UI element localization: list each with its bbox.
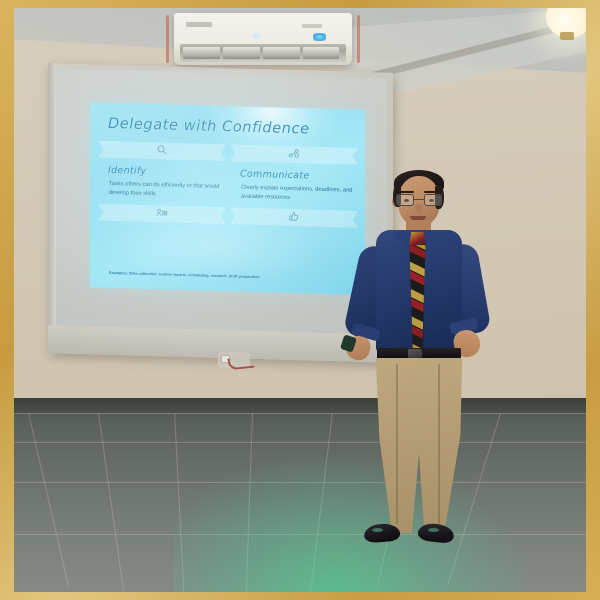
projector-screen-board: Delegate with Confidence xyxy=(48,63,393,363)
ac-brand-label xyxy=(186,22,212,27)
thumbs-up-icon xyxy=(289,208,300,226)
ceiling-light-base xyxy=(560,32,574,40)
ac-indicator-light xyxy=(252,33,261,39)
shoe-left xyxy=(363,522,400,543)
floor-skirting xyxy=(14,398,586,413)
air-conditioner-unit xyxy=(174,13,352,65)
search-icon xyxy=(157,142,168,160)
tie-knot xyxy=(409,232,426,245)
ac-vent-blade xyxy=(183,47,220,59)
belt-buckle xyxy=(408,349,422,359)
ac-vent-blade xyxy=(223,47,260,59)
slide-body-identify: Tasks others can do efficiently or that … xyxy=(109,180,237,201)
tile-grout-line xyxy=(98,413,124,590)
slide-heading-communicate: Communicate xyxy=(240,169,310,182)
trouser-crease-right xyxy=(438,364,440,524)
glasses-lens-left xyxy=(396,194,414,206)
slide-heading-identify: Identify xyxy=(108,165,146,177)
board-left-frame xyxy=(48,63,56,353)
ac-vent-blade xyxy=(303,47,340,59)
ac-model-label xyxy=(302,24,322,28)
wall-power-socket xyxy=(218,352,250,368)
photo-frame: Delegate with Confidence xyxy=(0,0,600,600)
slide-bar-communicate-bottom xyxy=(230,207,358,228)
nose xyxy=(415,204,422,213)
tile-grout-line xyxy=(14,442,586,443)
shoe-highlight-right xyxy=(428,528,439,532)
tile-grout-line xyxy=(28,413,69,588)
trousers xyxy=(374,358,464,533)
people-network-icon xyxy=(288,145,300,163)
projected-slide: Delegate with Confidence xyxy=(90,102,365,295)
slide-bar-identify-bottom xyxy=(98,204,226,225)
glasses-lens-right xyxy=(424,194,442,206)
tiled-floor xyxy=(14,398,586,592)
ac-pipe xyxy=(357,15,360,63)
ac-pipe xyxy=(166,15,169,63)
photograph: Delegate with Confidence xyxy=(14,8,586,592)
slide-bar-identify-top xyxy=(98,141,226,162)
presenter xyxy=(346,168,486,568)
person-gear-icon xyxy=(156,205,168,223)
trouser-crease-left xyxy=(396,364,398,524)
ac-vent-blade xyxy=(263,47,300,59)
slide-bar-communicate-top xyxy=(230,144,358,165)
shoe-highlight-left xyxy=(372,528,383,532)
ac-air-vent xyxy=(180,44,346,62)
shoe-right xyxy=(417,522,455,544)
glasses-bridge xyxy=(414,199,424,200)
ac-display-icon xyxy=(313,33,326,41)
